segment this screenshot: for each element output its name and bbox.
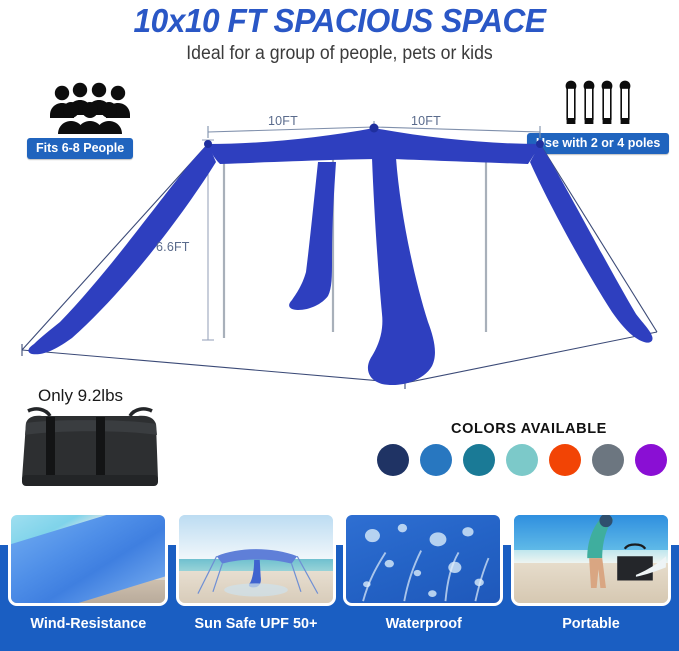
color-swatch-gray[interactable] (592, 444, 624, 476)
feature-waterproof: Waterproof (343, 512, 503, 651)
feature-label: Wind-Resistance (30, 615, 146, 632)
feature-sun-safe: Sun Safe UPF 50+ (176, 512, 336, 651)
feature-list: Wind-Resistance Sun Safe UPF 50+ (0, 512, 679, 651)
support-poles (224, 148, 486, 372)
carry-bag-illustration (12, 405, 168, 491)
canopy-fabric (28, 128, 652, 385)
color-swatch-orange-red[interactable] (549, 444, 581, 476)
dimension-width-right: 10FT (411, 114, 441, 128)
page-title: 10x10 FT SPACIOUS SPACE (14, 2, 666, 40)
feature-label: Sun Safe UPF 50+ (194, 615, 317, 632)
fabric-on-beach-photo (8, 512, 168, 606)
colors-available-title: COLORS AVAILABLE (451, 421, 607, 437)
feature-portable: Portable (511, 512, 671, 651)
color-swatch-light-teal[interactable] (506, 444, 538, 476)
color-swatch-row (377, 444, 667, 476)
tent-diagram (0, 100, 679, 400)
canopy-on-beach-photo (176, 512, 336, 606)
color-swatch-navy[interactable] (377, 444, 409, 476)
woman-carrying-bag-photo (511, 512, 671, 606)
dimension-width-left: 10FT (268, 114, 298, 128)
feature-wind-resistance: Wind-Resistance (8, 512, 168, 651)
page-subtitle: Ideal for a group of people, pets or kid… (24, 43, 655, 65)
bag-weight-label: Only 9.2lbs (38, 386, 123, 406)
dimension-height: 6.6FT (156, 240, 190, 254)
color-swatch-purple[interactable] (635, 444, 667, 476)
infographic-canvas: 10x10 FT SPACIOUS SPACE Ideal for a grou… (0, 0, 679, 651)
water-droplets-photo (343, 512, 503, 606)
color-swatch-teal[interactable] (463, 444, 495, 476)
feature-label: Portable (562, 615, 620, 632)
color-swatch-blue[interactable] (420, 444, 452, 476)
feature-label: Waterproof (385, 615, 461, 632)
